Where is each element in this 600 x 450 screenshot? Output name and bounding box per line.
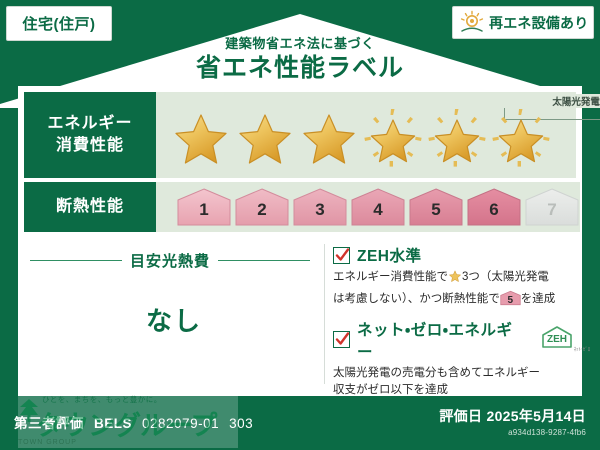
insulation-grade-2: 2 [234,187,290,227]
building-type-badge: 住宅(住戸) [6,6,112,41]
insulation-grade-6: 6 [466,187,522,227]
insulation-grade-3-label: 3 [292,200,348,220]
solar-star-icon [362,107,424,169]
zeh-logo: ZEH ﾈｯﾄ･ｾﾞﾛ [538,325,576,354]
insulation-grade-3: 3 [292,187,348,227]
netzero-checkbox [333,331,350,348]
insulation-grade-1: 1 [176,187,232,227]
criteria-pane: ZEH水準 エネルギー消費性能で3つ（太陽光発電 は考慮しない）、かつ断熱性能で… [333,240,576,388]
solar-sun-icon [459,10,485,36]
utility-cost-value: なし [24,301,324,338]
zeh-logo-subtext: ﾈｯﾄ･ｾﾞﾛ [574,346,590,353]
star-rating [156,107,552,169]
zeh-desc-stars: 3つ（太陽光発電 [462,271,549,283]
insulation-grade-4-label: 4 [350,200,406,220]
evaluation-date-block: 評価日 2025年5月14日 a934d138-9287-4fb6 [439,406,586,437]
zeh-logo-text: ZEH [547,334,567,345]
netzero-title: ネット・ゼロ・エネルギー [357,318,528,362]
insulation-grade-7-label: 7 [524,200,580,220]
insulation-grade-4: 4 [350,187,406,227]
mini-star-icon [448,269,462,290]
zeh-standard-title: ZEH水準 [357,244,422,266]
utility-cost-heading: 目安光熱費 [24,240,324,271]
energy-category-label: エネルギー 消費性能 [24,92,156,178]
renewable-badge-label: 再エネ設備あり [489,13,588,33]
utility-cost-pane: 目安光熱費 なし [24,240,324,388]
solar-caption: 太陽光発電(自家消費)分 [504,94,600,108]
energy-category-line1: エネルギー [47,113,132,135]
insulation-grade-7: 7 [524,187,580,227]
third-party-label: 第三者評価 [14,412,84,432]
scheme-label: BELS [94,416,132,431]
heading-rule-right [218,260,310,261]
utility-cost-label: 目安光熱費 [130,250,210,271]
solar-star-icon [490,107,552,169]
zeh-standard-description: エネルギー消費性能で3つ（太陽光発電 は考慮しない）、かつ断熱性能で5を達成 [333,269,576,309]
pane-divider [324,244,325,384]
mini-grade-house-icon: 5 [500,290,521,306]
netzero-description: 太陽光発電の売電分も含めてエネルギー 収支がゼロ以下を達成 [333,365,576,401]
heading-rule-left [30,260,122,261]
star-icon [234,107,296,169]
certification-info: 第三者評価 BELS 0282079-01 303 [14,412,253,432]
renewable-equipment-badge: 再エネ設備あり [452,6,594,39]
netzero-header: ネット・ゼロ・エネルギー ZEH ﾈｯﾄ･ｾﾞﾛ [333,318,576,362]
insulation-grade-5: 5 [408,187,464,227]
evaluation-date-label: 評価日 [439,408,482,424]
insulation-rating-area: 1 2 3 4 5 [156,182,580,232]
energy-label-root: 建築物省エネ法に基づく 省エネ性能ラベル 住宅(住戸) 再エネ設備あり エネルギ… [0,0,600,450]
certificate-number: 0282079-01 [142,416,219,431]
insulation-grade-1-label: 1 [176,200,232,220]
energy-category-line2: 消費性能 [56,135,124,157]
bottom-panes: 目安光熱費 なし ZEH水準 エネルギー消費性能で3つ（太陽光発電 は考慮しない… [24,240,576,388]
star-icon [298,107,360,169]
zeh-standard-header: ZEH水準 [333,244,576,266]
insulation-performance-row: 断熱性能 1 [24,182,576,232]
netzero-desc-line1: 太陽光発電の売電分も含めてエネルギー [333,367,540,379]
document-hash: a934d138-9287-4fb6 [439,428,586,437]
star-icon [170,107,232,169]
energy-rating-area: 太陽光発電(自家消費)分 [156,92,576,178]
label-card: エネルギー 消費性能 太陽光発電(自家消費)分 [18,86,582,396]
evaluation-date: 評価日 2025年5月14日 [439,406,586,426]
insulation-grade-5-label: 5 [408,200,464,220]
insulation-grade-2-label: 2 [234,200,290,220]
mini-grade-value: 5 [500,293,521,309]
evaluation-date-value: 2025年5月14日 [486,408,586,424]
zeh-checkbox [333,247,350,264]
energy-performance-row: エネルギー 消費性能 太陽光発電(自家消費)分 [24,92,576,178]
insulation-grade-scale: 1 2 3 4 5 [156,187,580,227]
zeh-desc-part3: を達成 [521,293,556,305]
label-footer: 第三者評価 BELS 0282079-01 303 評価日 2025年5月14日… [0,396,600,450]
solar-star-icon [426,107,488,169]
insulation-category-label: 断熱性能 [24,182,156,232]
zeh-desc-part1: エネルギー消費性能で [333,271,448,283]
netzero-desc-line2: 収支がゼロ以下を達成 [333,384,448,396]
zeh-desc-part2: は考慮しない）、かつ断熱性能で [333,293,500,305]
insulation-grade-6-label: 6 [466,200,522,220]
extra-number: 303 [229,416,253,431]
